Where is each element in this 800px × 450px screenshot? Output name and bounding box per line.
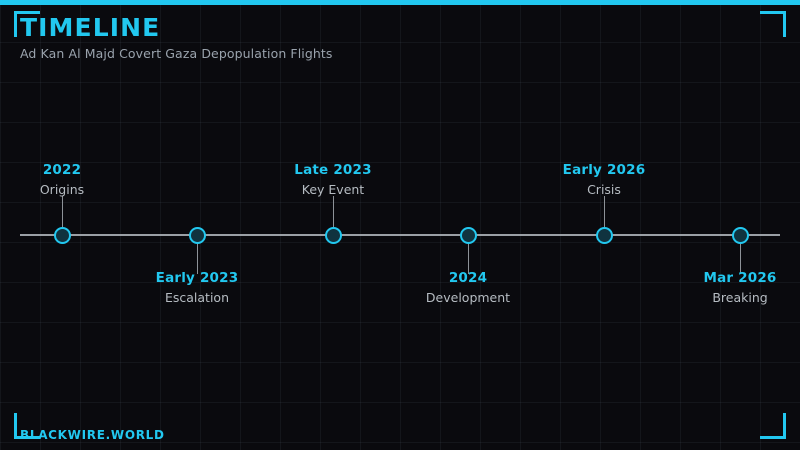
background-grid (0, 0, 800, 450)
event-label: 2022Origins (0, 164, 172, 196)
event-date: 2024 (358, 272, 578, 286)
event-date: 2022 (0, 164, 172, 178)
event-connector-line (197, 243, 198, 274)
event-label: 2024Development (358, 272, 578, 304)
event-marker-dot[interactable] (54, 227, 71, 244)
event-label: Late 2023Key Event (223, 164, 443, 196)
event-connector-line (333, 196, 334, 227)
footer-brand: BLACKWIRE.WORLD (20, 428, 165, 442)
event-marker-dot[interactable] (325, 227, 342, 244)
event-date: Mar 2026 (630, 272, 800, 286)
event-date: Early 2023 (87, 272, 307, 286)
event-description: Escalation (87, 292, 307, 305)
event-connector-line (62, 196, 63, 227)
event-connector-line (740, 243, 741, 274)
event-date: Late 2023 (223, 164, 443, 178)
event-description: Origins (0, 184, 172, 197)
event-marker-dot[interactable] (189, 227, 206, 244)
top-accent-bar (0, 0, 800, 5)
event-marker-dot[interactable] (732, 227, 749, 244)
event-description: Development (358, 292, 578, 305)
timeline-axis-line (20, 234, 780, 236)
event-date: Early 2026 (494, 164, 714, 178)
timeline-infographic: TIMELINE Ad Kan Al Majd Covert Gaza Depo… (0, 0, 800, 450)
event-connector-line (468, 243, 469, 274)
event-label: Mar 2026Breaking (630, 272, 800, 304)
event-description: Crisis (494, 184, 714, 197)
event-marker-dot[interactable] (596, 227, 613, 244)
corner-bracket-bottom-right-icon (760, 413, 786, 439)
event-description: Breaking (630, 292, 800, 305)
event-marker-dot[interactable] (460, 227, 477, 244)
event-connector-line (604, 196, 605, 227)
event-label: Early 2026Crisis (494, 164, 714, 196)
header: TIMELINE Ad Kan Al Majd Covert Gaza Depo… (20, 14, 720, 62)
timeline-track: 2022OriginsEarly 2023EscalationLate 2023… (0, 0, 800, 450)
page-subtitle: Ad Kan Al Majd Covert Gaza Depopulation … (20, 46, 720, 62)
page-title: TIMELINE (20, 14, 720, 42)
event-label: Early 2023Escalation (87, 272, 307, 304)
event-description: Key Event (223, 184, 443, 197)
corner-bracket-top-right-icon (760, 11, 786, 37)
